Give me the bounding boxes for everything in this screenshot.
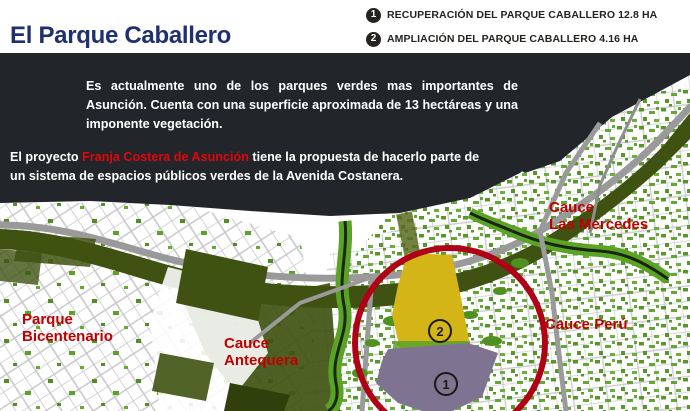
legend-badge-2: 2 xyxy=(366,32,381,47)
map-label-line1: Cauce Perú xyxy=(545,316,628,333)
legend-label-1: RECUPERACIÓN DEL PARQUE CABALLERO 12.8 H… xyxy=(387,9,657,21)
legend-item-2[interactable]: 2 AMPLIACIÓN DEL PARQUE CABALLERO 4.16 H… xyxy=(366,28,686,50)
header-bar: El Parque Caballero 1 RECUPERACIÓN DEL P… xyxy=(0,0,690,53)
map-label-line2: Las Mercedes xyxy=(549,216,648,233)
legend: 1 RECUPERACIÓN DEL PARQUE CABALLERO 12.8… xyxy=(366,4,686,52)
legend-item-1[interactable]: 1 RECUPERACIÓN DEL PARQUE CABALLERO 12.8… xyxy=(366,4,686,26)
page-title: El Parque Caballero xyxy=(10,22,231,50)
map-canvas[interactable]: 2 1 Parque Bicentenario Cauce Antequera … xyxy=(0,53,690,411)
zone-marker-2[interactable]: 2 xyxy=(428,319,452,343)
map-label-line2: Antequera xyxy=(224,352,298,369)
map-label-parque-bicentenario: Parque Bicentenario xyxy=(22,311,113,345)
legend-label-2: AMPLIACIÓN DEL PARQUE CABALLERO 4.16 HA xyxy=(387,33,638,45)
map-label-line2: Bicentenario xyxy=(22,328,113,345)
zone-marker-1[interactable]: 1 xyxy=(434,372,458,396)
parque-caballero-infographic: 2 1 Parque Bicentenario Cauce Antequera … xyxy=(0,0,690,411)
map-label-line1: Cauce xyxy=(224,335,298,352)
legend-badge-1: 1 xyxy=(366,8,381,23)
map-label-cauce-las-mercedes: Cauce Las Mercedes xyxy=(549,199,648,233)
map-label-cauce-antequera: Cauce Antequera xyxy=(224,335,298,369)
map-label-line1: Parque xyxy=(22,311,113,328)
map-label-line1: Cauce xyxy=(549,199,648,216)
map-label-cauce-peru: Cauce Perú xyxy=(545,316,628,333)
